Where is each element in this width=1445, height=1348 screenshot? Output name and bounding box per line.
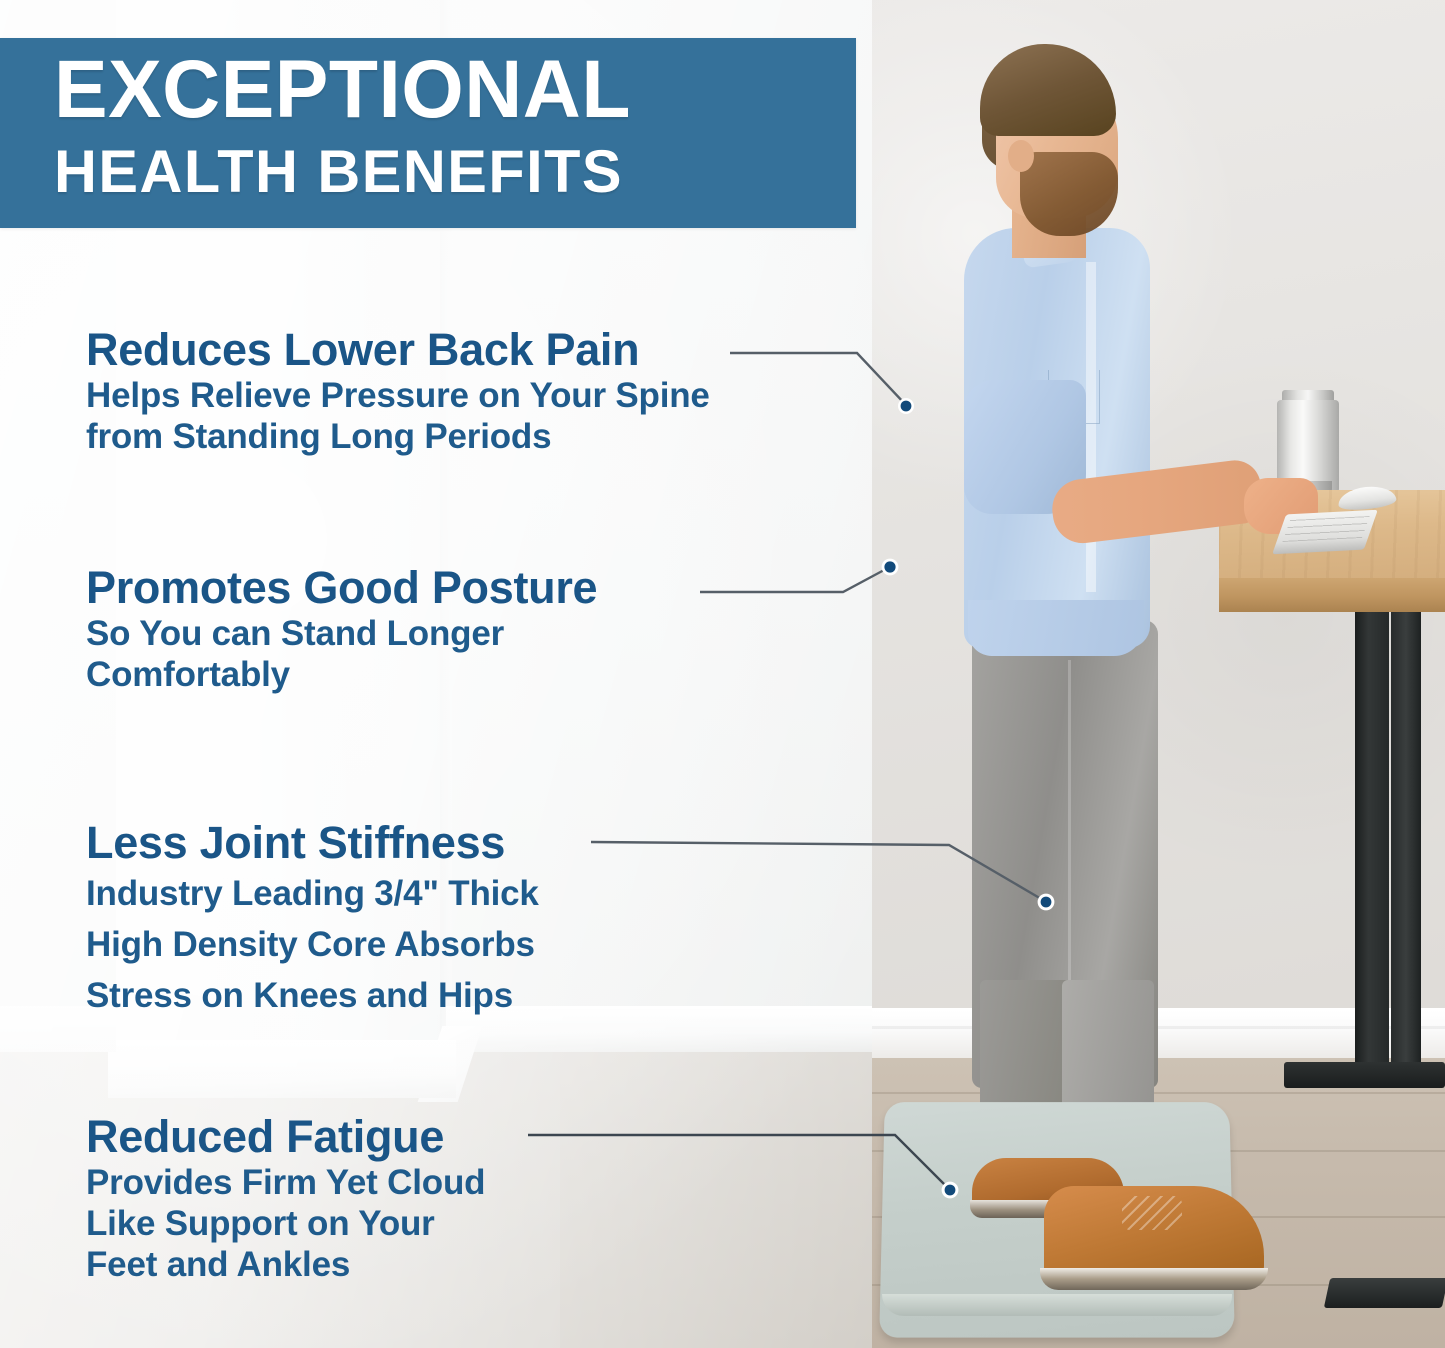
desk-leg-upper xyxy=(1355,610,1389,1078)
benefit-title: Promotes Good Posture xyxy=(86,563,597,613)
benefit-block-less-joint-stiffness: Less Joint Stiffness Industry Leading 3/… xyxy=(86,818,539,1021)
banner-title-line1: EXCEPTIONAL xyxy=(54,44,840,136)
anti-fatigue-mat-edge xyxy=(882,1294,1232,1316)
benefit-body-line: So You can Stand Longer xyxy=(86,613,597,654)
banner-title-line2: HEALTH BENEFITS xyxy=(54,136,848,208)
benefit-body-line: Industry Leading 3/4" Thick xyxy=(86,868,539,919)
benefit-body-line: Comfortably xyxy=(86,654,597,695)
floor-plank-line xyxy=(872,1092,1445,1094)
header-banner: EXCEPTIONAL HEALTH BENEFITS xyxy=(0,38,856,228)
benefit-body-line: High Density Core Absorbs xyxy=(86,919,539,970)
person-ear xyxy=(1008,140,1034,172)
benefit-body-line: from Standing Long Periods xyxy=(86,416,710,457)
benefit-body-line: Stress on Knees and Hips xyxy=(86,970,539,1021)
shoe-laces xyxy=(1122,1196,1182,1230)
benefit-body-line: Helps Relieve Pressure on Your Spine xyxy=(86,375,710,416)
desk-foot-back xyxy=(1324,1278,1445,1308)
benefit-title: Less Joint Stiffness xyxy=(86,818,539,868)
benefit-body-line: Provides Firm Yet Cloud xyxy=(86,1162,485,1203)
person-shirt-hem xyxy=(968,600,1144,656)
benefit-title: Reduced Fatigue xyxy=(86,1112,485,1162)
benefit-block-reduces-lower-back-pain: Reduces Lower Back Pain Helps Relieve Pr… xyxy=(86,325,710,457)
product-photo xyxy=(872,0,1445,1348)
person-shoe-front-sole xyxy=(1040,1268,1268,1290)
person-leg-back xyxy=(980,980,1072,1120)
benefit-title: Reduces Lower Back Pain xyxy=(86,325,710,375)
infographic-canvas: EXCEPTIONAL HEALTH BENEFITS Reduces Lowe… xyxy=(0,0,1445,1348)
benefit-body-line: Like Support on Your xyxy=(86,1203,485,1244)
benefit-body-line: Feet and Ankles xyxy=(86,1244,485,1285)
computer-keyboard xyxy=(1272,510,1378,555)
desk-leg-lower xyxy=(1391,610,1421,1078)
benefit-block-reduced-fatigue: Reduced Fatigue Provides Firm Yet Cloud … xyxy=(86,1112,485,1285)
desk-foot-front xyxy=(1284,1062,1445,1088)
benefit-block-promotes-good-posture: Promotes Good Posture So You can Stand L… xyxy=(86,563,597,695)
desk-top-edge xyxy=(1219,578,1445,612)
